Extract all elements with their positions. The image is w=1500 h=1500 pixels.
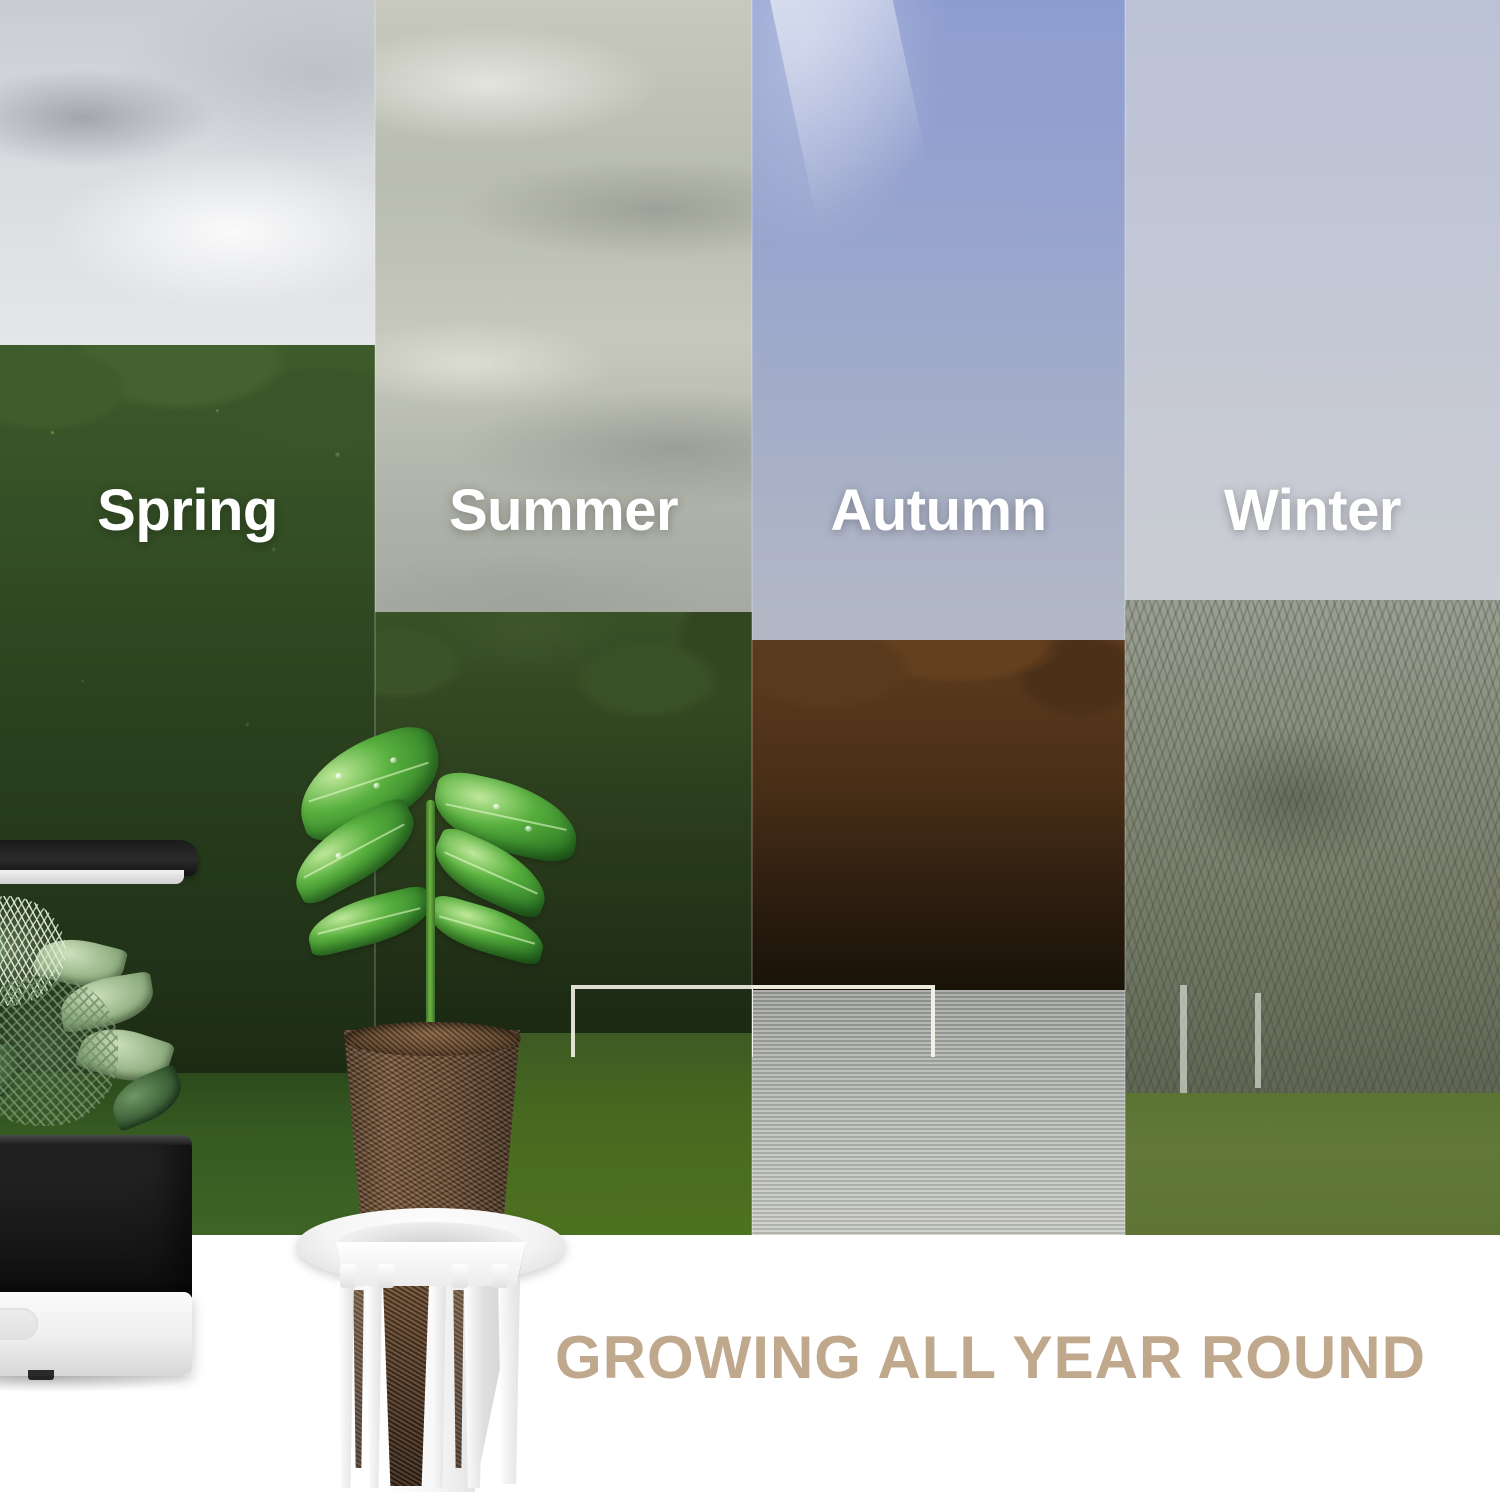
basket-rib <box>338 1282 354 1488</box>
device-herb-cluster <box>0 880 192 1145</box>
basket-tab <box>492 1264 508 1288</box>
autumn-football-goal <box>752 985 935 1057</box>
tagline-growing-all-year-round: GROWING ALL YEAR ROUND <box>555 1328 1465 1388</box>
device-reservoir-body <box>0 1135 192 1300</box>
basket-rib <box>498 1278 520 1484</box>
device-shadow <box>0 1376 198 1392</box>
season-label-winter: Winter <box>1125 482 1500 540</box>
device-control-panel[interactable] <box>0 1308 38 1340</box>
water-droplet <box>372 782 381 790</box>
summer-sky <box>375 0 752 700</box>
basket-tab <box>378 1264 394 1288</box>
winter-bare-trees <box>1125 600 1500 1095</box>
basket-soil-slot <box>352 1290 365 1468</box>
season-label-spring: Spring <box>0 482 375 540</box>
hydroponic-garden-device <box>0 840 222 1500</box>
seedling-stem <box>426 800 435 1050</box>
thyme-sprig <box>0 976 118 1126</box>
leaf-vein <box>309 762 429 803</box>
leaf-vein <box>444 851 538 895</box>
product-marketing-image: Spring Summer Autumn Winter <box>0 0 1500 1500</box>
leaf-vein <box>439 915 535 944</box>
season-label-autumn: Autumn <box>752 482 1125 540</box>
leaf-vein <box>317 907 420 935</box>
leaf-vein <box>445 803 567 831</box>
panel-seam-3 <box>1124 0 1126 1235</box>
soil-plug-top <box>343 1022 521 1056</box>
water-droplet <box>389 756 398 764</box>
basket-tab <box>340 1264 356 1288</box>
basket-tab <box>452 1264 468 1288</box>
panel-seam-2 <box>751 0 753 1235</box>
season-panel-autumn: Autumn <box>752 0 1125 1235</box>
winter-ground <box>1125 1093 1500 1235</box>
water-droplet <box>524 825 532 832</box>
summer-football-goal <box>571 985 752 1057</box>
water-droplet <box>493 803 501 810</box>
water-droplet <box>335 772 344 780</box>
season-panel-winter: Winter <box>1125 0 1500 1235</box>
autumn-trees <box>752 640 1125 995</box>
autumn-sky <box>752 0 1125 700</box>
seedling-grow-pod <box>280 730 590 1500</box>
season-label-summer: Summer <box>375 482 752 540</box>
winter-sky <box>1125 0 1500 660</box>
season-strip: Spring Summer Autumn Winter <box>0 0 1500 1235</box>
basket-rib <box>366 1282 382 1488</box>
